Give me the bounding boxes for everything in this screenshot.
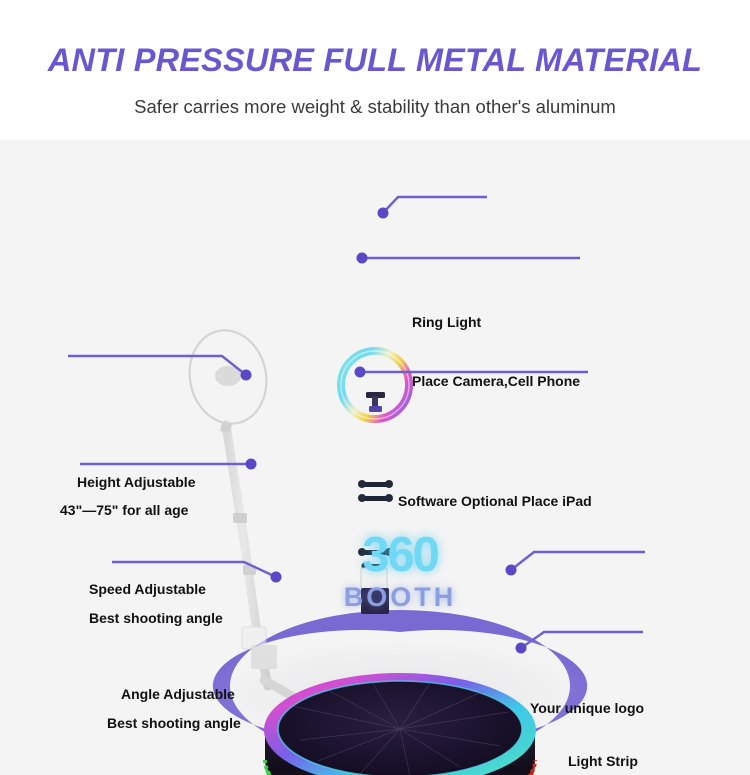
- callout-height-sub: 43"—75" for all age: [60, 502, 188, 519]
- leader-dot-ring-light: [378, 208, 389, 219]
- callout-software: Software Optional Place iPad: [398, 493, 592, 510]
- leader-angle: [112, 562, 276, 577]
- callout-angle: Angle Adjustable: [121, 686, 235, 703]
- callout-logo: Your unique logo: [530, 700, 644, 717]
- page-subtitle: Safer carries more weight & stability th…: [0, 96, 750, 118]
- callout-light-strip: Light Strip: [568, 753, 638, 770]
- header-block: ANTI PRESSURE FULL METAL MATERIAL Safer …: [0, 0, 750, 140]
- leader-dots: [241, 208, 527, 654]
- page-title: ANTI PRESSURE FULL METAL MATERIAL: [0, 42, 750, 79]
- leader-dot-angle: [271, 572, 282, 583]
- infographic-page: ANTI PRESSURE FULL METAL MATERIAL Safer …: [0, 0, 750, 775]
- leader-dot-place-camera: [357, 253, 368, 264]
- leader-dot-software: [355, 367, 366, 378]
- callout-leader-lines: [0, 140, 750, 775]
- leader-height: [68, 356, 246, 375]
- callout-height: Height Adjustable: [77, 474, 196, 491]
- leader-dot-height: [241, 370, 252, 381]
- leader-light-strip: [521, 632, 643, 648]
- leader-dot-light-strip: [516, 643, 527, 654]
- callout-speed-sub: Best shooting angle: [89, 610, 223, 627]
- callout-ring-light: Ring Light: [412, 314, 481, 331]
- product-illustration-stage: 360 BOOTH: [0, 140, 750, 775]
- leader-logo: [511, 552, 645, 570]
- callout-place-camera: Place Camera,Cell Phone: [412, 373, 580, 390]
- callout-speed: Speed Adjustable: [89, 581, 206, 598]
- leader-dot-logo: [506, 565, 517, 576]
- callout-angle-sub: Best shooting angle: [107, 715, 241, 732]
- leader-ring-light: [383, 197, 487, 213]
- leader-dot-speed: [246, 459, 257, 470]
